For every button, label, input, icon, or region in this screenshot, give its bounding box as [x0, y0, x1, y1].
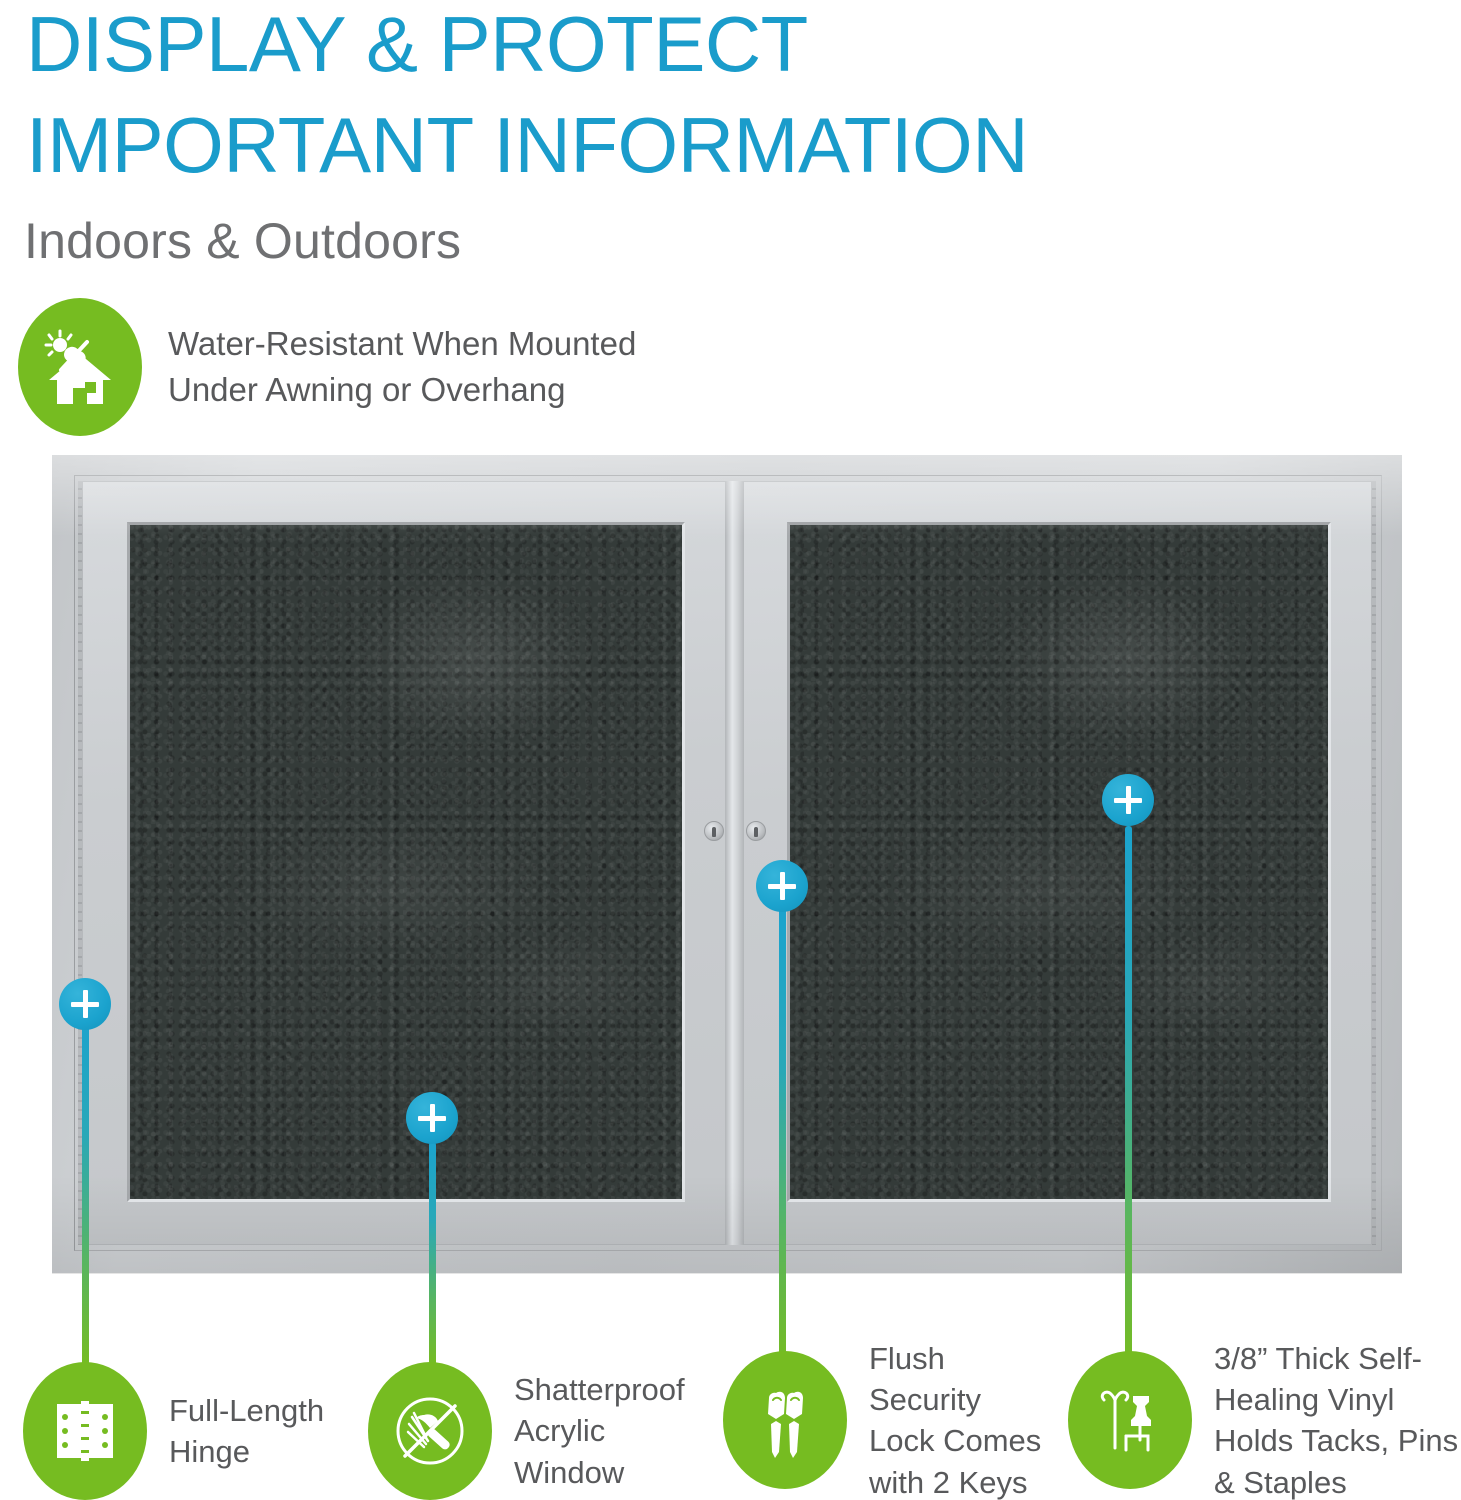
leader-line-hinge [82, 1010, 89, 1366]
pushpin-tack-icon [1068, 1351, 1192, 1489]
leader-line-acrylic [429, 1142, 436, 1366]
feature-shatterproof-acrylic: Shatterproof Acrylic Window [368, 1362, 685, 1500]
center-mullion [726, 481, 744, 1245]
lock-left-keyhole-icon[interactable] [704, 821, 724, 841]
feature-self-healing-vinyl-label: 3/8” Thick Self- Healing Vinyl Holds Tac… [1214, 1338, 1458, 1500]
infographic-canvas: DISPLAY & PROTECT IMPORTANT INFORMATION … [0, 0, 1461, 1500]
keys-icon [723, 1351, 847, 1489]
feature-full-length-hinge: Full-Length Hinge [23, 1362, 324, 1500]
callout-acrylic-plus-icon[interactable] [406, 1092, 458, 1144]
page-subtitle: Indoors & Outdoors [24, 212, 461, 270]
vinyl-board-right [790, 525, 1328, 1199]
feature-flush-security-lock: Flush Security Lock Comes with 2 Keys [723, 1338, 1041, 1500]
hinge-icon [23, 1362, 147, 1500]
page-title: DISPLAY & PROTECT IMPORTANT INFORMATION [26, 0, 1326, 197]
feature-water-resistant-label: Water-Resistant When Mounted Under Awnin… [168, 321, 636, 412]
feature-flush-security-lock-label: Flush Security Lock Comes with 2 Keys [869, 1338, 1041, 1500]
door-left-bevel [127, 522, 685, 1202]
door-left[interactable] [82, 481, 726, 1245]
vinyl-board-left [130, 525, 682, 1199]
feature-shatterproof-acrylic-label: Shatterproof Acrylic Window [514, 1369, 685, 1493]
feature-self-healing-vinyl: 3/8” Thick Self- Healing Vinyl Holds Tac… [1068, 1338, 1458, 1500]
feature-water-resistant: Water-Resistant When Mounted Under Awnin… [18, 298, 636, 436]
leader-line-lock [779, 908, 786, 1366]
callout-lock-plus-icon[interactable] [756, 860, 808, 912]
leader-line-vinyl [1125, 826, 1132, 1366]
house-sun-rain-icon [18, 298, 142, 436]
callout-vinyl-plus-icon[interactable] [1102, 774, 1154, 826]
door-right[interactable] [742, 481, 1372, 1245]
callout-hinge-plus-icon[interactable] [59, 978, 111, 1030]
lock-right-keyhole-icon[interactable] [746, 821, 766, 841]
product-image-enclosed-bulletin-board [52, 455, 1402, 1273]
door-right-bevel [787, 522, 1331, 1202]
feature-full-length-hinge-label: Full-Length Hinge [169, 1390, 324, 1472]
no-hammer-icon [368, 1362, 492, 1500]
